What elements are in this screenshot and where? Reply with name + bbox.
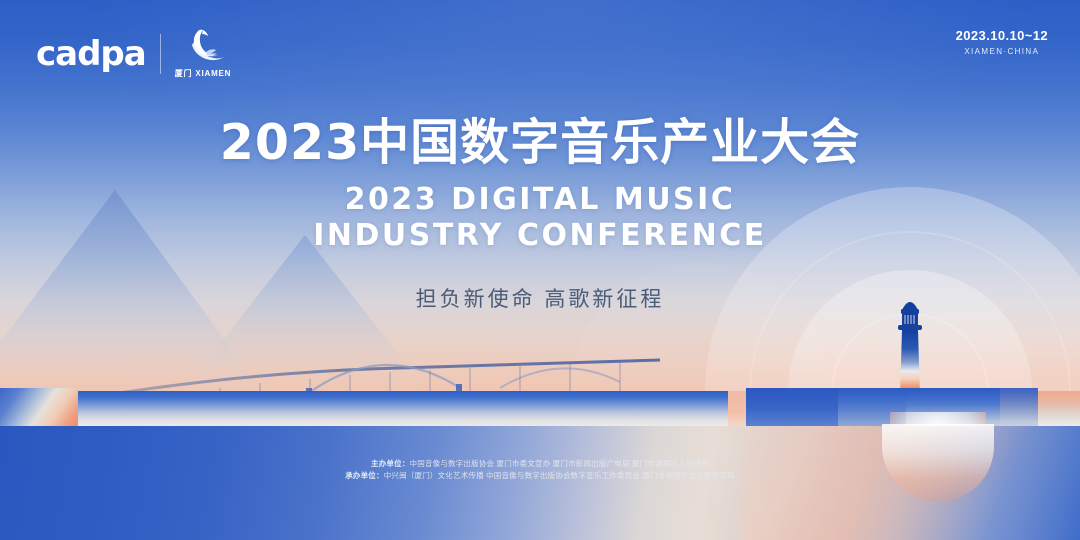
event-slogan: 担负新使命 高歌新征程	[0, 283, 1080, 313]
credits-host-line: 主办单位：中国音像与数字出版协会 厦门市委文宣办 厦门市新闻出版广电局 厦门市湖…	[0, 458, 1080, 470]
page-title-cn: 2023中国数字音乐产业大会	[0, 116, 1080, 170]
event-date: 2023.10.10~12	[956, 28, 1048, 45]
xiamen-egret-icon	[180, 28, 226, 66]
event-location: XIAMEN·CHINA	[956, 47, 1048, 56]
credits-host-label: 主办单位：	[371, 459, 410, 468]
credits-host-text: 中国音像与数字出版协会 厦门市委文宣办 厦门市新闻出版广电局 厦门市湖里区人民政…	[410, 459, 709, 468]
brand-lockup[interactable]: cadpa 厦门 XIAMEN	[36, 28, 231, 79]
band-gap-highlight	[728, 391, 746, 426]
xiamen-logo-caption: 厦门 XIAMEN	[175, 68, 232, 79]
conference-poster: cadpa 厦门 XIAMEN 2023.10.10~12 XIAMEN·CHI…	[0, 0, 1080, 540]
credits-organizer-label: 承办单位：	[345, 471, 384, 480]
logo-divider	[160, 34, 161, 74]
page-title-en-line1: 2023 DIGITAL MUSIC	[0, 182, 1080, 218]
credits-organizer-text: 中兴闽（厦门）文化艺术传播 中国音像与数字出版协会数字音乐工作委员会 厦门市湖里…	[384, 471, 735, 480]
page-title-en: 2023 DIGITAL MUSIC INDUSTRY CONFERENCE	[0, 182, 1080, 254]
cadpa-logo-text: cadpa	[36, 37, 146, 71]
page-title-en-line2: INDUSTRY CONFERENCE	[0, 218, 1080, 254]
event-date-block: 2023.10.10~12 XIAMEN·CHINA	[956, 28, 1048, 56]
credits-block: 主办单位：中国音像与数字出版协会 厦门市委文宣办 厦门市新闻出版广电局 厦门市湖…	[0, 458, 1080, 481]
credits-organizer-line: 承办单位：中兴闽（厦门）文化艺术传播 中国音像与数字出版协会数字音乐工作委员会 …	[0, 470, 1080, 482]
left-gradient-block	[0, 388, 78, 426]
xiamen-logo: 厦门 XIAMEN	[175, 28, 232, 79]
